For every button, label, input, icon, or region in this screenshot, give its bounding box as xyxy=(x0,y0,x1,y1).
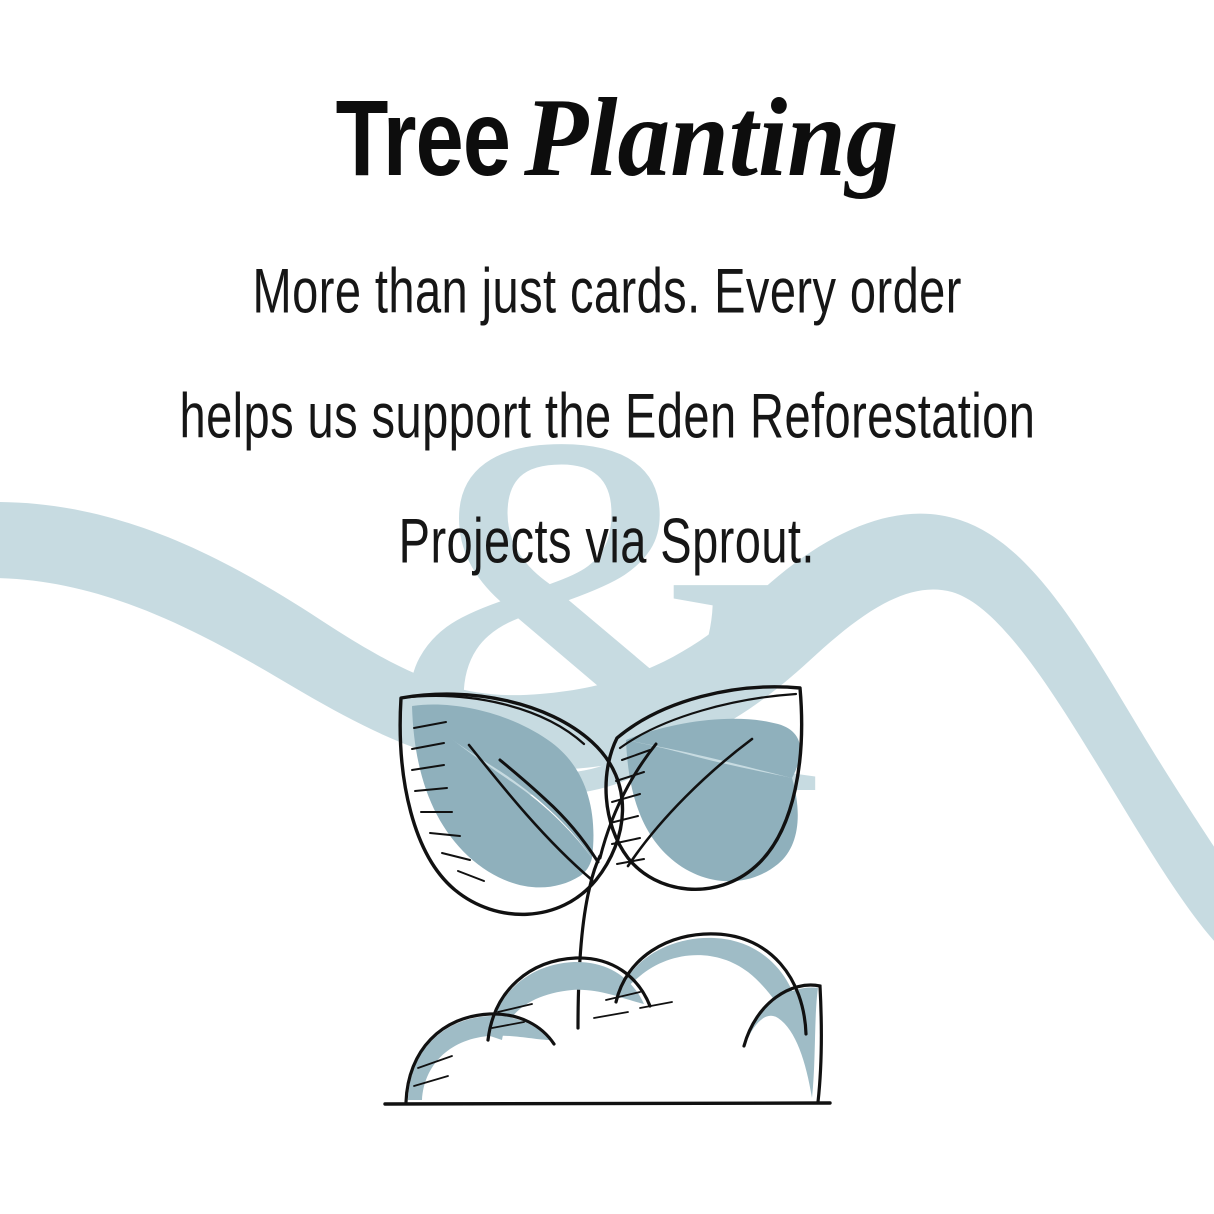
text-layer: TreePlanting More than just cards. Every… xyxy=(0,0,1214,1214)
tree-planting-graphic: & xyxy=(0,0,1214,1214)
body-text-line-3-text: Projects via Sprout. xyxy=(399,504,815,577)
page-title-italic-part: Planting xyxy=(524,82,898,194)
body-text-line-3: Projects via Sprout. xyxy=(0,508,1214,573)
body-text-line-1: More than just cards. Every order xyxy=(0,258,1214,323)
body-text-line-2: helps us support the Eden Reforestation xyxy=(0,383,1214,448)
page-title-bold-part: Tree xyxy=(335,84,510,192)
body-text-line-2-text: helps us support the Eden Reforestation xyxy=(179,379,1035,452)
body-text-line-1-text: More than just cards. Every order xyxy=(252,254,961,327)
page-title: TreePlanting xyxy=(0,82,1214,194)
